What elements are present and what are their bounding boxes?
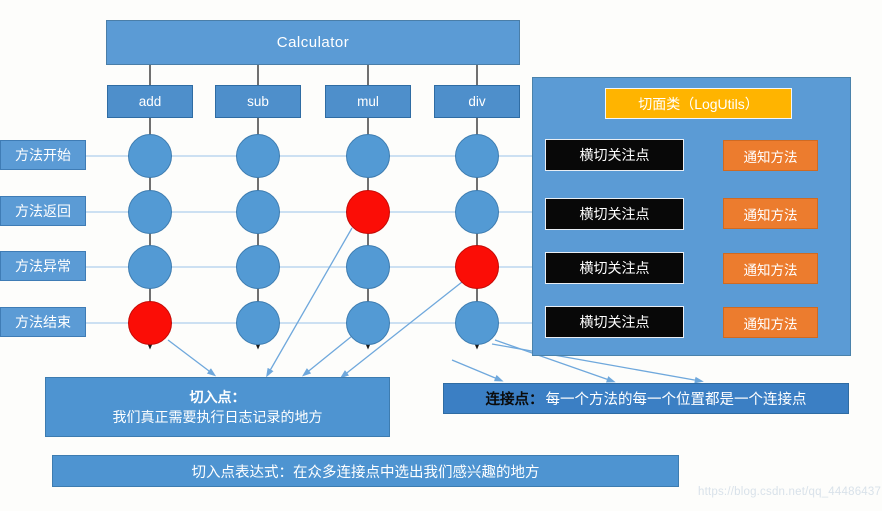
method-label: div bbox=[468, 94, 485, 109]
joinpoint-node-mul-return[interactable] bbox=[346, 190, 390, 234]
method-box-add[interactable]: add bbox=[107, 85, 193, 118]
aop-diagram: Calculator add sub mul div 方法开始 方法返回 方法异… bbox=[0, 0, 882, 511]
crosscutting-concern-label: 横切关注点 bbox=[580, 204, 650, 224]
target-class-label: Calculator bbox=[277, 34, 350, 51]
joinpoint-node-mul-start[interactable] bbox=[346, 134, 390, 178]
advice-method-label: 通知方法 bbox=[744, 259, 798, 279]
crosscutting-concern-box-1[interactable]: 横切关注点 bbox=[545, 139, 684, 171]
class-to-method-links bbox=[150, 65, 477, 85]
joinpoint-keyword: 连接点： bbox=[486, 388, 544, 409]
crosscutting-concern-box-2[interactable]: 横切关注点 bbox=[545, 198, 684, 230]
stage-label-text: 方法返回 bbox=[15, 201, 71, 221]
aspect-title-text: 切面类（LogUtils） bbox=[638, 94, 759, 114]
joinpoint-node-mul-end[interactable] bbox=[346, 301, 390, 345]
method-label: sub bbox=[247, 94, 269, 109]
crosscutting-concern-label: 横切关注点 bbox=[580, 312, 650, 332]
pointcut-expression-box[interactable]: 切入点表达式：在众多连接点中选出我们感兴趣的地方 bbox=[52, 455, 679, 487]
stage-label-text: 方法开始 bbox=[15, 145, 71, 165]
advice-method-label: 通知方法 bbox=[744, 204, 798, 224]
pointcut-callout-box[interactable]: 切入点： 我们真正需要执行日志记录的地方 bbox=[45, 377, 390, 437]
pointcut-expression-text: 切入点表达式：在众多连接点中选出我们感兴趣的地方 bbox=[192, 461, 540, 482]
joinpoint-node-mul-exception[interactable] bbox=[346, 245, 390, 289]
stage-label-method-start[interactable]: 方法开始 bbox=[0, 140, 86, 170]
method-box-div[interactable]: div bbox=[434, 85, 520, 118]
joinpoint-node-sub-return[interactable] bbox=[236, 190, 280, 234]
joinpoint-node-div-exception[interactable] bbox=[455, 245, 499, 289]
crosscutting-concern-label: 横切关注点 bbox=[580, 145, 650, 165]
stage-label-text: 方法异常 bbox=[15, 256, 71, 276]
watermark: https://blog.csdn.net/qq_44486437 bbox=[698, 486, 881, 498]
advice-method-label: 通知方法 bbox=[744, 146, 798, 166]
joinpoint-node-add-end[interactable] bbox=[128, 301, 172, 345]
crosscutting-concern-label: 横切关注点 bbox=[580, 258, 650, 278]
method-box-mul[interactable]: mul bbox=[325, 85, 411, 118]
joinpoint-node-add-return[interactable] bbox=[128, 190, 172, 234]
advice-method-box-4[interactable]: 通知方法 bbox=[723, 307, 818, 338]
joinpoint-description: 每一个方法的每一个位置都是一个连接点 bbox=[546, 388, 807, 409]
advice-method-label: 通知方法 bbox=[744, 313, 798, 333]
stage-label-method-exception[interactable]: 方法异常 bbox=[0, 251, 86, 281]
joinpoint-node-div-start[interactable] bbox=[455, 134, 499, 178]
advice-method-box-3[interactable]: 通知方法 bbox=[723, 253, 818, 284]
joinpoint-node-div-return[interactable] bbox=[455, 190, 499, 234]
method-label: add bbox=[139, 94, 162, 109]
method-timelines bbox=[150, 118, 477, 345]
advice-method-box-1[interactable]: 通知方法 bbox=[723, 140, 818, 171]
pointcut-description: 我们真正需要执行日志记录的地方 bbox=[113, 407, 323, 427]
advice-method-box-2[interactable]: 通知方法 bbox=[723, 198, 818, 229]
target-class-box[interactable]: Calculator bbox=[106, 20, 520, 65]
method-label: mul bbox=[357, 94, 379, 109]
crosscutting-concern-box-4[interactable]: 横切关注点 bbox=[545, 306, 684, 338]
joinpoint-callout-box[interactable]: 连接点： 每一个方法的每一个位置都是一个连接点 bbox=[443, 383, 849, 414]
method-box-sub[interactable]: sub bbox=[215, 85, 301, 118]
stage-label-method-end[interactable]: 方法结束 bbox=[0, 307, 86, 337]
joinpoint-node-div-end[interactable] bbox=[455, 301, 499, 345]
joinpoint-node-add-start[interactable] bbox=[128, 134, 172, 178]
joinpoint-node-sub-end[interactable] bbox=[236, 301, 280, 345]
aspect-title-box[interactable]: 切面类（LogUtils） bbox=[605, 88, 792, 119]
crosscutting-concern-box-3[interactable]: 横切关注点 bbox=[545, 252, 684, 284]
joinpoint-node-sub-exception[interactable] bbox=[236, 245, 280, 289]
joinpoint-node-sub-start[interactable] bbox=[236, 134, 280, 178]
stage-label-method-return[interactable]: 方法返回 bbox=[0, 196, 86, 226]
pointcut-arrows bbox=[168, 228, 462, 376]
stage-label-text: 方法结束 bbox=[15, 312, 71, 332]
pointcut-title: 切入点： bbox=[190, 387, 246, 407]
joinpoint-node-add-exception[interactable] bbox=[128, 245, 172, 289]
